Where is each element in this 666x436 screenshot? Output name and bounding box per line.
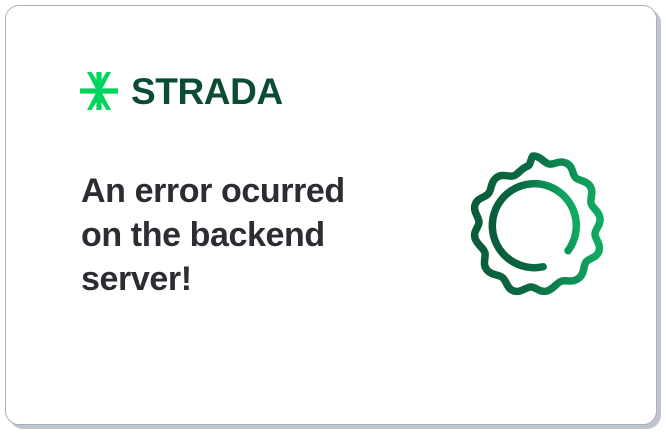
screen: STRADA An error ocurred on the backend s… <box>0 0 666 436</box>
gear-cog-icon <box>449 142 617 310</box>
error-card: STRADA An error ocurred on the backend s… <box>5 5 657 425</box>
error-message: An error ocurred on the backend server! <box>81 169 381 301</box>
strada-asterisk-icon <box>78 70 120 112</box>
brand-name: STRADA <box>131 73 283 110</box>
brand-lockup: STRADA <box>78 68 283 114</box>
